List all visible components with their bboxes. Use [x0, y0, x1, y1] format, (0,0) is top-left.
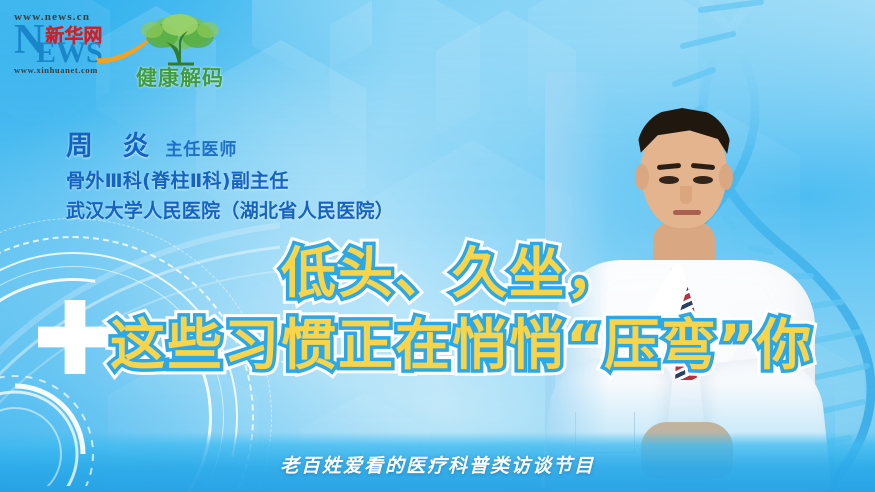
poster-canvas: www.news.cn N 新华网 EWS www.xinhuanet.com … [0, 0, 875, 492]
headline-line-2: 这些习惯正在悄悄“压弯”你 这些习惯正在悄悄“压弯”你 这些习惯正在悄悄“压弯”… [110, 300, 813, 366]
doctor-hospital: 武汉大学人民医院（湖北省人民医院） [66, 196, 394, 223]
doctor-info: 周 炎 主任医师 骨外Ⅲ科(脊柱Ⅱ科)副主任 武汉大学人民医院（湖北省人民医院） [66, 124, 394, 223]
doctor-name: 周 炎 [66, 124, 159, 163]
headline-line-1: 低头、久坐， 低头、久坐， 低头、久坐， [281, 228, 623, 294]
doctor-position: 骨外Ⅲ科(脊柱Ⅱ科)副主任 [66, 166, 394, 193]
doctor-rank: 主任医师 [165, 135, 237, 160]
program-logo[interactable]: 健康解码 [118, 12, 242, 92]
xinhua-url-bottom: www.xinhuanet.com [14, 65, 126, 75]
program-tagline: 老百姓爱看的医疗科普类访谈节目 [0, 451, 875, 478]
program-name: 健康解码 [118, 62, 242, 92]
